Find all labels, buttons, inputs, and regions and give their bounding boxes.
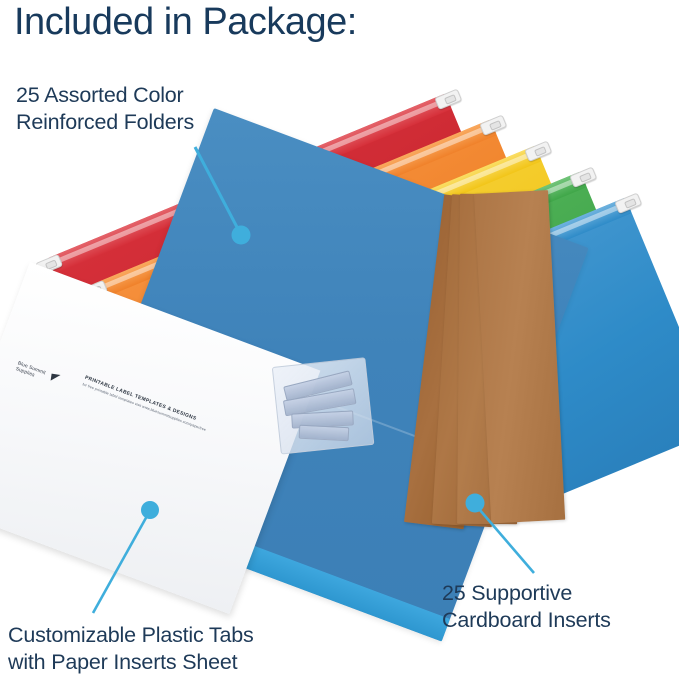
blue-summit-logo-icon bbox=[51, 374, 61, 382]
page-title: Included in Package: bbox=[14, 0, 357, 44]
product-infographic: Blue Summit Supplies PRINTABLE LABEL TEM… bbox=[0, 0, 679, 687]
callout-label-cardboard-inserts: 25 Supportive Cardboard Inserts bbox=[442, 580, 611, 634]
paper-headline: PRINTABLE LABEL TEMPLATES & DESIGNS bbox=[84, 375, 197, 422]
blue-summit-logo-text: Blue Summit Supplies bbox=[15, 360, 47, 382]
plastic-tabs-bag bbox=[272, 357, 372, 452]
paper-subline: for free printable label templates visit… bbox=[82, 382, 207, 432]
callout-label-folders: 25 Assorted Color Reinforced Folders bbox=[16, 82, 194, 136]
plastic-tab-stack-4 bbox=[299, 425, 350, 442]
callout-label-plastic-tabs: Customizable Plastic Tabs with Paper Ins… bbox=[8, 622, 254, 676]
